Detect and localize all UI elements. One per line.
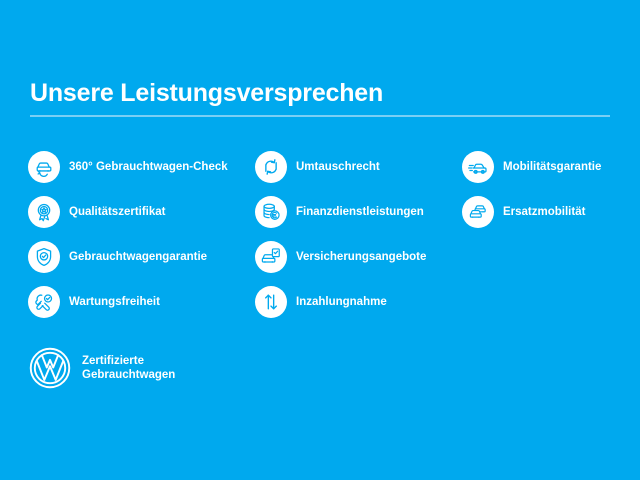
feature-item-insurance-offers[interactable]: Versicherungsangebote	[255, 234, 465, 279]
shield-check-icon	[28, 241, 60, 273]
feature-label: Gebrauchtwagengarantie	[69, 250, 207, 264]
brand-lockup-text: ZertifizierteGebrauchtwagen	[82, 354, 175, 382]
feature-label: Mobilitätsgarantie	[503, 160, 601, 174]
feature-label: Umtauschrecht	[296, 160, 380, 174]
car-speed-icon	[462, 151, 494, 183]
volkswagen-roundel-icon	[28, 346, 72, 390]
feature-columns: 360° Gebrauchtwagen-Check Qualitätszerti…	[0, 144, 640, 334]
car-document-check-icon	[255, 241, 287, 273]
brand-lockup-line-2: Gebrauchtwagen	[82, 369, 175, 381]
page-title: Unsere Leistungsversprechen	[30, 78, 610, 108]
up-down-arrows-icon	[255, 286, 287, 318]
feature-column-1: 360° Gebrauchtwagen-Check Qualitätszerti…	[28, 144, 258, 324]
feature-item-exchange-right[interactable]: Umtauschrecht	[255, 144, 465, 189]
feature-item-360-check[interactable]: 360° Gebrauchtwagen-Check	[28, 144, 258, 189]
promo-panel: Unsere Leistungsversprechen 360° Gebrauc	[0, 0, 640, 480]
feature-item-replacement-mobility[interactable]: Ersatzmobilität	[462, 189, 640, 234]
feature-label: Versicherungsangebote	[296, 250, 426, 264]
car-360-check-icon	[28, 151, 60, 183]
brand-lockup: ZertifizierteGebrauchtwagen	[28, 346, 175, 390]
coins-euro-icon	[255, 196, 287, 228]
feature-column-3: Mobilitätsgarantie Ersatzmobilitä	[462, 144, 640, 234]
feature-item-trade-in[interactable]: Inzahlungnahme	[255, 279, 465, 324]
feature-item-quality-certificate[interactable]: Qualitätszertifikat	[28, 189, 258, 234]
feature-item-maintenance-free[interactable]: Wartungsfreiheit	[28, 279, 258, 324]
two-cars-icon	[462, 196, 494, 228]
wrench-check-icon	[28, 286, 60, 318]
feature-item-financial-services[interactable]: Finanzdienstleistungen	[255, 189, 465, 234]
feature-column-2: Umtauschrecht Finanzdienstleistun	[255, 144, 465, 324]
exchange-arrows-icon	[255, 151, 287, 183]
feature-label: Inzahlungnahme	[296, 295, 387, 309]
feature-item-mobility-guarantee[interactable]: Mobilitätsgarantie	[462, 144, 640, 189]
title-block: Unsere Leistungsversprechen	[30, 78, 610, 117]
feature-label: Wartungsfreiheit	[69, 295, 160, 309]
feature-item-used-car-warranty[interactable]: Gebrauchtwagengarantie	[28, 234, 258, 279]
award-rosette-icon	[28, 196, 60, 228]
feature-label: 360° Gebrauchtwagen-Check	[69, 160, 228, 174]
feature-label: Finanzdienstleistungen	[296, 205, 424, 219]
feature-label: Ersatzmobilität	[503, 205, 585, 219]
feature-label: Qualitätszertifikat	[69, 205, 166, 219]
title-divider	[30, 115, 610, 117]
brand-lockup-line-1: Zertifizierte	[82, 355, 144, 367]
